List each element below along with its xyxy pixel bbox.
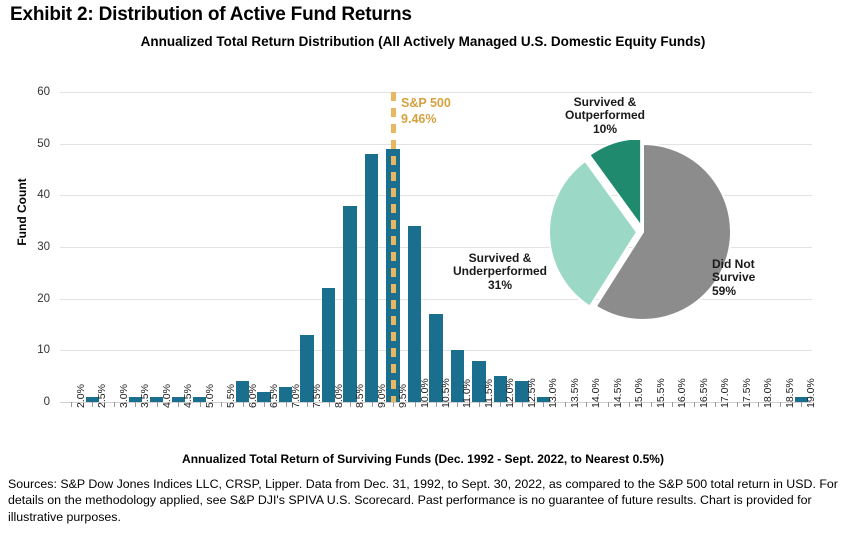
x-axis-tick-mark: [629, 402, 630, 407]
x-axis-tick-mark: [586, 402, 587, 407]
y-axis: 0102030405060: [0, 92, 58, 402]
x-axis-tick-mark: [694, 402, 695, 407]
x-axis-tick-label: 17.5%: [741, 378, 753, 408]
x-axis-tick-label: 2.0%: [75, 384, 87, 408]
x-axis-tick-label: 12.5%: [526, 378, 538, 408]
x-axis-tick-label: 5.0%: [204, 384, 216, 408]
x-axis-tick-mark: [157, 402, 158, 407]
pie-callout-underperformed-value: 31%: [420, 279, 580, 292]
x-axis-tick-mark: [178, 402, 179, 407]
y-axis-title: Fund Count: [15, 152, 29, 272]
x-axis-tick-mark: [543, 402, 544, 407]
x-axis-tick-mark: [71, 402, 72, 407]
histogram-bar: [343, 206, 356, 402]
x-axis-tick-label: 18.5%: [784, 378, 796, 408]
x-axis-tick-label: 17.0%: [719, 378, 731, 408]
y-axis-tick-label: 30: [37, 241, 50, 253]
x-axis-tick-label: 8.0%: [333, 384, 345, 408]
x-axis-tick-mark: [500, 402, 501, 407]
pie-callout-didnotsurvive-line2: Survive: [712, 271, 822, 284]
x-axis-tick-label: 11.5%: [483, 379, 495, 408]
x-axis-tick-mark: [780, 402, 781, 407]
histogram-bar: [365, 154, 378, 402]
x-axis-tick-mark: [200, 402, 201, 407]
x-axis-tick-label: 4.0%: [161, 384, 173, 408]
x-axis-tick-label: 7.5%: [311, 384, 323, 408]
x-axis-tick-label: 9.0%: [376, 384, 388, 408]
x-axis-tick-label: 19.0%: [805, 378, 817, 408]
x-axis-tick-label: 11.0%: [461, 379, 473, 408]
x-axis-tick-mark: [307, 402, 308, 407]
x-axis-tick-label: 18.0%: [762, 378, 774, 408]
x-axis-tick-mark: [92, 402, 93, 407]
x-axis-tick-label: 6.0%: [247, 384, 259, 408]
pie-callout-underperformed-line2: Underperformed: [420, 265, 580, 278]
x-axis-tick-mark: [672, 402, 673, 407]
x-axis-tick-mark: [221, 402, 222, 407]
pie-callout-underperformed: Survived & Underperformed 31%: [420, 252, 580, 292]
x-axis-tick-label: 9.5%: [397, 384, 409, 408]
y-axis-tick-label: 10: [37, 344, 50, 356]
x-axis-tick-label: 13.0%: [547, 378, 559, 408]
x-axis-tick-label: 4.5%: [182, 384, 194, 408]
x-axis-tick-mark: [565, 402, 566, 407]
pie-callout-didnotsurvive-line1: Did Not: [712, 258, 822, 271]
x-axis-tick-label: 8.5%: [354, 384, 366, 408]
x-axis-tick-mark: [436, 402, 437, 407]
x-axis-tick-mark: [114, 402, 115, 407]
pie-callout-outperformed-line1: Survived &: [520, 96, 690, 109]
benchmark-label-name: S&P 500: [401, 96, 451, 110]
x-axis-tick-mark: [350, 402, 351, 407]
x-axis-tick-label: 7.0%: [290, 384, 302, 408]
x-axis-tick-mark: [479, 402, 480, 407]
pie-callout-underperformed-line1: Survived &: [420, 252, 580, 265]
x-axis-tick-label: 2.5%: [96, 384, 108, 408]
pie-callout-didnotsurvive: Did Not Survive 59%: [712, 258, 822, 298]
x-axis-tick-mark: [758, 402, 759, 407]
x-axis-tick-mark: [135, 402, 136, 407]
x-axis-tick-mark: [457, 402, 458, 407]
x-axis-tick-mark: [372, 402, 373, 407]
x-axis-tick-mark: [264, 402, 265, 407]
x-axis-tick-label: 5.5%: [225, 384, 237, 408]
y-axis-tick-label: 20: [37, 293, 50, 305]
x-axis-tick-label: 14.5%: [612, 378, 624, 408]
pie-callout-outperformed-line2: Outperformed: [520, 109, 690, 122]
x-axis-tick-mark: [243, 402, 244, 407]
x-axis-tick-mark: [801, 402, 802, 407]
x-axis-tick-mark: [286, 402, 287, 407]
chart-subtitle: Annualized Total Return Distribution (Al…: [0, 34, 846, 49]
x-axis-title: Annualized Total Return of Surviving Fun…: [0, 452, 846, 466]
pie-callout-outperformed-value: 10%: [520, 123, 690, 136]
benchmark-label-value: 9.46%: [401, 112, 436, 126]
pie-callout-didnotsurvive-value: 59%: [712, 285, 822, 298]
x-axis-tick-label: 12.0%: [504, 378, 516, 408]
x-axis-tick-label: 10.5%: [440, 378, 452, 408]
sources-note: Sources: S&P Dow Jones Indices LLC, CRSP…: [8, 476, 840, 525]
x-axis-tick-mark: [415, 402, 416, 407]
x-axis-tick-label: 16.5%: [698, 378, 710, 408]
pie-callout-outperformed: Survived & Outperformed 10%: [520, 96, 690, 136]
x-axis-tick-label: 3.5%: [139, 384, 151, 408]
y-axis-tick-label: 60: [37, 86, 50, 98]
x-axis-tick-mark: [522, 402, 523, 407]
x-axis-tick-mark: [608, 402, 609, 407]
x-axis-tick-label: 16.0%: [676, 378, 688, 408]
x-axis-tick-label: 13.5%: [569, 378, 581, 408]
y-axis-tick-label: 0: [44, 396, 50, 408]
x-axis-tick-label: 15.5%: [655, 378, 667, 408]
x-axis-tick-mark: [393, 402, 394, 407]
x-axis-tick-mark: [715, 402, 716, 407]
x-axis-tick-label: 15.0%: [633, 378, 645, 408]
page-title: Exhibit 2: Distribution of Active Fund R…: [10, 4, 412, 26]
x-axis-tick-mark: [329, 402, 330, 407]
y-axis-tick-label: 50: [37, 138, 50, 150]
y-axis-tick-label: 40: [37, 189, 50, 201]
x-axis-tick-label: 6.5%: [268, 384, 280, 408]
x-axis-tick-mark: [651, 402, 652, 407]
x-axis-tick-label: 3.0%: [118, 384, 130, 408]
x-axis-tick-mark: [737, 402, 738, 407]
x-axis-labels: 2.0%2.5%3.0%3.5%4.0%4.5%5.0%5.5%6.0%6.5%…: [60, 408, 812, 452]
x-axis-tick-label: 14.0%: [590, 378, 602, 408]
benchmark-line-sp500: [391, 92, 396, 402]
x-axis-tick-label: 10.0%: [419, 378, 431, 408]
